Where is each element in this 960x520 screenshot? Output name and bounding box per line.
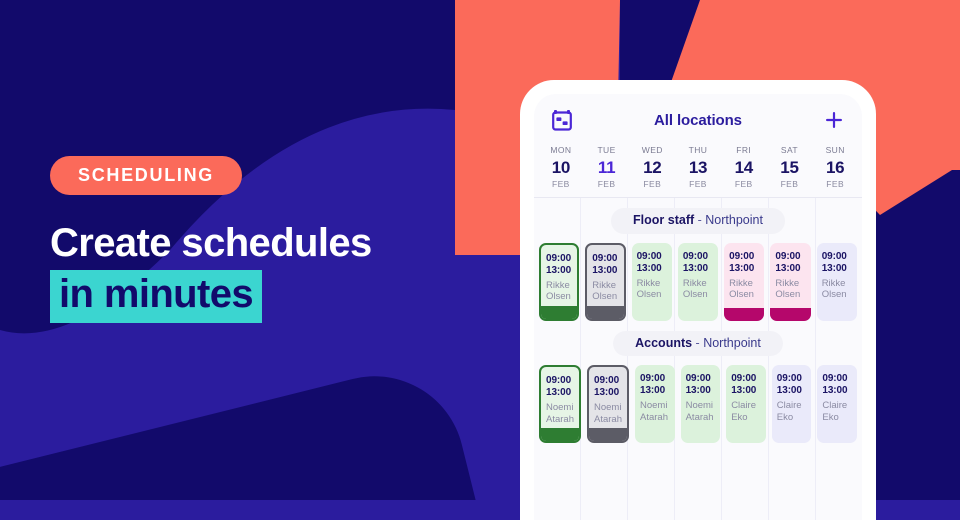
day-month: FEB xyxy=(629,180,675,189)
employee-last-name: Atarah xyxy=(594,414,622,425)
shift-status-bar xyxy=(681,430,721,443)
shift-cell: 09:0013:00ClaireEko xyxy=(814,365,860,443)
topbar-title: All locations xyxy=(574,112,822,129)
shift-employee-name: ClaireEko xyxy=(772,397,812,430)
shift-end-time: 13:00 xyxy=(587,265,623,277)
day-column-header-fri[interactable]: FRI14FEB xyxy=(721,146,767,188)
shift-row: 09:0013:00RikkeOlsen09:0013:00RikkeOlsen… xyxy=(534,243,862,321)
shift-cell: 09:0013:00RikkeOlsen xyxy=(721,243,767,321)
employee-last-name: Olsen xyxy=(729,289,754,300)
shift-card[interactable]: 09:0013:00NoemiAtarah xyxy=(539,365,581,443)
shift-card[interactable]: 09:0013:00RikkeOlsen xyxy=(585,243,625,321)
employee-last-name: Olsen xyxy=(592,291,617,302)
day-column-header-mon[interactable]: MON10FEB xyxy=(538,146,584,188)
shift-employee-name: ClaireEko xyxy=(817,397,857,430)
shift-cell: 09:0013:00ClaireEko xyxy=(769,365,815,443)
schedule-groups: Floor staff - Northpoint09:0013:00RikkeO… xyxy=(534,198,862,443)
shift-row: 09:0013:00NoemiAtarah09:0013:00NoemiAtar… xyxy=(534,365,862,443)
shift-start-time: 09:00 xyxy=(632,251,672,263)
employee-last-name: Eko xyxy=(777,412,793,423)
shift-end-time: 13:00 xyxy=(770,263,810,275)
shift-status-bar xyxy=(817,308,857,321)
day-column-header-sat[interactable]: SAT15FEB xyxy=(767,146,813,188)
shift-card[interactable]: 09:0013:00RikkeOlsen xyxy=(539,243,579,321)
shift-start-time: 09:00 xyxy=(770,251,810,263)
shift-end-time: 13:00 xyxy=(541,265,577,277)
phone-mockup: All locations MON10FEBTUE11FEBWED12FEBTH… xyxy=(520,80,876,520)
day-month: FEB xyxy=(538,180,584,189)
group-location: Northpoint xyxy=(705,213,763,227)
shift-employee-name: RikkeOlsen xyxy=(587,277,623,306)
day-of-week: FRI xyxy=(721,146,767,155)
shift-status-bar xyxy=(587,306,623,319)
shift-cell: 09:0013:00ClaireEko xyxy=(723,365,769,443)
employee-last-name: Olsen xyxy=(683,289,708,300)
shift-card[interactable]: 09:0013:00ClaireEko xyxy=(726,365,766,443)
shift-employee-name: NoemiAtarah xyxy=(681,397,721,430)
day-of-week: THU xyxy=(675,146,721,155)
group-pill[interactable]: Accounts - Northpoint xyxy=(613,331,783,357)
day-strip: MON10FEBTUE11FEBWED12FEBTHU13FEBFRI14FEB… xyxy=(534,146,862,198)
app-screen: All locations MON10FEBTUE11FEBWED12FEBTH… xyxy=(534,94,862,520)
shift-card[interactable]: 09:0013:00ClaireEko xyxy=(817,365,857,443)
shift-status-bar xyxy=(724,308,764,321)
day-of-week: WED xyxy=(629,146,675,155)
shift-cell: 09:0013:00NoemiAtarah xyxy=(632,365,678,443)
shift-end-time: 13:00 xyxy=(772,385,812,397)
group-header: Floor staff - Northpoint xyxy=(534,198,862,243)
shift-card[interactable]: 09:0013:00RikkeOlsen xyxy=(770,243,810,321)
shift-start-time: 09:00 xyxy=(635,373,675,385)
shift-end-time: 13:00 xyxy=(635,385,675,397)
shift-employee-name: RikkeOlsen xyxy=(724,275,764,308)
shift-cell: 09:0013:00NoemiAtarah xyxy=(678,365,724,443)
shift-card[interactable]: 09:0013:00ClaireEko xyxy=(772,365,812,443)
day-of-week: MON xyxy=(538,146,584,155)
page-title: Create schedules in minutes xyxy=(50,221,480,323)
shift-end-time: 13:00 xyxy=(724,263,764,275)
employee-first-name: Noemi xyxy=(594,402,621,413)
employee-first-name: Rikke xyxy=(729,278,753,289)
shift-start-time: 09:00 xyxy=(587,253,623,265)
employee-last-name: Olsen xyxy=(546,291,571,302)
shift-card[interactable]: 09:0013:00NoemiAtarah xyxy=(587,365,629,443)
schedule-group: Accounts - Northpoint09:0013:00NoemiAtar… xyxy=(534,321,862,444)
shift-status-bar xyxy=(817,430,857,443)
day-month: FEB xyxy=(812,180,858,189)
shift-employee-name: RikkeOlsen xyxy=(541,277,577,306)
employee-last-name: Atarah xyxy=(686,412,714,423)
shift-end-time: 13:00 xyxy=(541,387,579,399)
shift-status-bar xyxy=(589,428,627,441)
shift-end-time: 13:00 xyxy=(726,385,766,397)
day-number: 12 xyxy=(629,159,675,176)
shift-end-time: 13:00 xyxy=(589,387,627,399)
day-of-week: TUE xyxy=(584,146,630,155)
shift-card[interactable]: 09:0013:00NoemiAtarah xyxy=(681,365,721,443)
employee-last-name: Olsen xyxy=(822,289,847,300)
shift-start-time: 09:00 xyxy=(681,373,721,385)
employee-first-name: Rikke xyxy=(637,278,661,289)
day-column-header-wed[interactable]: WED12FEB xyxy=(629,146,675,188)
shift-cell: 09:0013:00RikkeOlsen xyxy=(629,243,675,321)
day-column-header-thu[interactable]: THU13FEB xyxy=(675,146,721,188)
shift-employee-name: RikkeOlsen xyxy=(770,275,810,308)
headline-line-1: Create schedules xyxy=(50,221,372,265)
shift-employee-name: RikkeOlsen xyxy=(678,275,718,308)
shift-cell: 09:0013:00RikkeOlsen xyxy=(814,243,860,321)
shift-cell: 09:0013:00RikkeOlsen xyxy=(582,243,628,321)
group-pill[interactable]: Floor staff - Northpoint xyxy=(611,208,785,234)
day-of-week: SUN xyxy=(812,146,858,155)
shift-status-bar xyxy=(772,430,812,443)
shift-status-bar xyxy=(726,430,766,443)
day-number: 11 xyxy=(584,159,630,176)
group-separator: - xyxy=(692,336,703,350)
group-name: Accounts xyxy=(635,336,692,350)
app-topbar: All locations xyxy=(534,94,862,146)
shift-end-time: 13:00 xyxy=(817,263,857,275)
headline-line-2: in minutes xyxy=(50,270,262,323)
shift-start-time: 09:00 xyxy=(541,375,579,387)
day-column-header-sun[interactable]: SUN16FEB xyxy=(812,146,858,188)
calendar-icon[interactable] xyxy=(550,108,574,132)
shift-start-time: 09:00 xyxy=(541,253,577,265)
day-number: 15 xyxy=(767,159,813,176)
employee-first-name: Noemi xyxy=(686,400,713,411)
employee-first-name: Rikke xyxy=(592,280,616,291)
employee-first-name: Claire xyxy=(822,400,847,411)
day-number: 13 xyxy=(675,159,721,176)
employee-last-name: Olsen xyxy=(775,289,800,300)
promo-copy: SCHEDULING Create schedules in minutes xyxy=(50,156,480,323)
shift-status-bar xyxy=(541,428,579,441)
shift-status-bar xyxy=(678,308,718,321)
shift-start-time: 09:00 xyxy=(589,375,627,387)
shift-end-time: 13:00 xyxy=(632,263,672,275)
shift-cell: 09:0013:00RikkeOlsen xyxy=(536,243,582,321)
shift-cell: 09:0013:00NoemiAtarah xyxy=(584,365,632,443)
shift-start-time: 09:00 xyxy=(726,373,766,385)
group-location: Northpoint xyxy=(703,336,761,350)
shift-end-time: 13:00 xyxy=(678,263,718,275)
day-number: 16 xyxy=(812,159,858,176)
shift-start-time: 09:00 xyxy=(817,373,857,385)
shift-card[interactable]: 09:0013:00RikkeOlsen xyxy=(724,243,764,321)
group-separator: - xyxy=(694,213,705,227)
shift-status-bar xyxy=(635,430,675,443)
shift-card[interactable]: 09:0013:00RikkeOlsen xyxy=(632,243,672,321)
day-month: FEB xyxy=(721,180,767,189)
shift-cell: 09:0013:00RikkeOlsen xyxy=(675,243,721,321)
eyebrow-badge: SCHEDULING xyxy=(50,156,242,195)
shift-cell: 09:0013:00NoemiAtarah xyxy=(536,365,584,443)
day-month: FEB xyxy=(584,180,630,189)
employee-first-name: Rikke xyxy=(546,280,570,291)
shift-end-time: 13:00 xyxy=(817,385,857,397)
employee-first-name: Noemi xyxy=(546,402,573,413)
shift-status-bar xyxy=(632,308,672,321)
day-number: 14 xyxy=(721,159,767,176)
employee-last-name: Atarah xyxy=(640,412,668,423)
shift-status-bar xyxy=(770,308,810,321)
employee-first-name: Claire xyxy=(731,400,756,411)
employee-first-name: Rikke xyxy=(775,278,799,289)
day-month: FEB xyxy=(767,180,813,189)
shift-card[interactable]: 09:0013:00RikkeOlsen xyxy=(678,243,718,321)
shift-employee-name: NoemiAtarah xyxy=(541,399,579,428)
day-month: FEB xyxy=(675,180,721,189)
shift-cell: 09:0013:00RikkeOlsen xyxy=(767,243,813,321)
shift-end-time: 13:00 xyxy=(681,385,721,397)
shift-employee-name: NoemiAtarah xyxy=(635,397,675,430)
shift-employee-name: ClaireEko xyxy=(726,397,766,430)
employee-first-name: Rikke xyxy=(822,278,846,289)
employee-first-name: Rikke xyxy=(683,278,707,289)
plus-icon[interactable] xyxy=(822,108,846,132)
employee-last-name: Eko xyxy=(731,412,747,423)
shift-status-bar xyxy=(541,306,577,319)
shift-start-time: 09:00 xyxy=(817,251,857,263)
schedule-grid: Floor staff - Northpoint09:0013:00RikkeO… xyxy=(534,198,862,520)
shift-employee-name: RikkeOlsen xyxy=(632,275,672,308)
group-name: Floor staff xyxy=(633,213,694,227)
employee-last-name: Atarah xyxy=(546,414,574,425)
employee-last-name: Eko xyxy=(822,412,838,423)
day-of-week: SAT xyxy=(767,146,813,155)
group-header: Accounts - Northpoint xyxy=(534,321,862,366)
shift-start-time: 09:00 xyxy=(678,251,718,263)
schedule-group: Floor staff - Northpoint09:0013:00RikkeO… xyxy=(534,198,862,321)
employee-first-name: Noemi xyxy=(640,400,667,411)
shift-card[interactable]: 09:0013:00NoemiAtarah xyxy=(635,365,675,443)
shift-start-time: 09:00 xyxy=(772,373,812,385)
employee-first-name: Claire xyxy=(777,400,802,411)
day-column-header-tue[interactable]: TUE11FEB xyxy=(584,146,630,188)
shift-employee-name: RikkeOlsen xyxy=(817,275,857,308)
day-number: 10 xyxy=(538,159,584,176)
shift-start-time: 09:00 xyxy=(724,251,764,263)
employee-last-name: Olsen xyxy=(637,289,662,300)
shift-card[interactable]: 09:0013:00RikkeOlsen xyxy=(817,243,857,321)
shift-employee-name: NoemiAtarah xyxy=(589,399,627,428)
